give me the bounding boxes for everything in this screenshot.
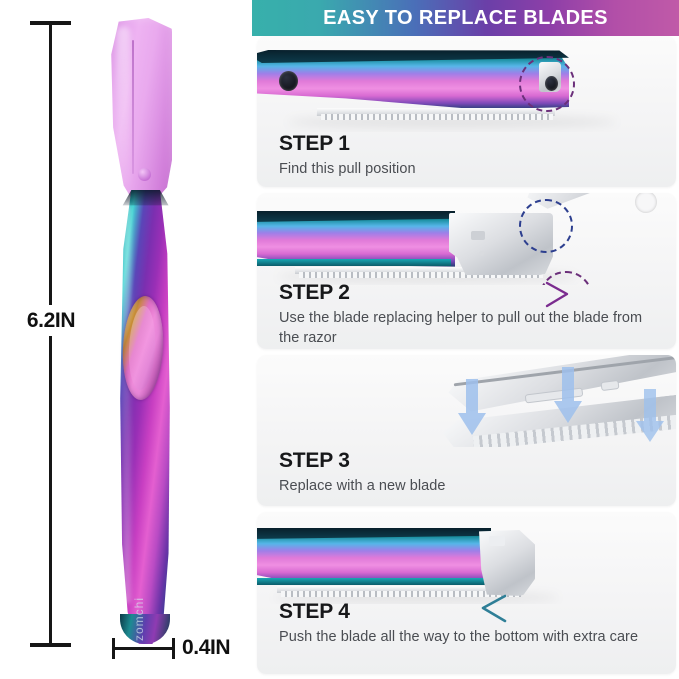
step-2-description: Use the blade replacing helper to pull o… [279, 308, 659, 348]
banner-title: EASY TO REPLACE BLADES [323, 7, 608, 30]
height-dimension-bottom-cap [30, 643, 71, 647]
razor-handle-highlight [122, 204, 131, 604]
step-card-2: STEP 2 Use the blade replacing helper to… [257, 193, 676, 349]
step-3-blue-down-arrow-icon-1 [457, 379, 487, 439]
step-3-blue-down-arrow-icon-2 [553, 367, 583, 427]
step-2-razor-teal-edge [257, 259, 451, 266]
banner-header: EASY TO REPLACE BLADES [252, 0, 679, 36]
step-2-right-arrow-icon [467, 281, 577, 309]
height-dimension-label: 6.2IN [8, 305, 94, 336]
width-dimension-line [113, 647, 175, 650]
razor-cap-logo-icon [138, 168, 151, 181]
razor-cap-highlight [116, 26, 130, 186]
step-1-description: Find this pull position [279, 159, 416, 179]
razor-cap-seam [132, 40, 134, 174]
step-1-title: STEP 1 [279, 132, 416, 156]
razor-product-image: zomchi [96, 18, 196, 644]
step-4-cartridge-notch [489, 536, 505, 546]
step-2-cartridge-slot [471, 231, 485, 240]
step-card-1: STEP 1 Find this pull position [257, 36, 676, 187]
step-4-description: Push the blade all the way to the bottom… [279, 627, 638, 647]
step-3-photo [257, 355, 676, 447]
step-card-3: STEP 3 Replace with a new blade [257, 355, 676, 506]
step-4-blade-cartridge [479, 530, 535, 596]
razor-brand-text: zomchi [132, 583, 146, 641]
product-dimension-panel: 6.2IN 0.4IN zomchi [0, 0, 252, 679]
step-3-description: Replace with a new blade [279, 476, 445, 496]
step-1-razor-hole [279, 71, 298, 91]
step-4-photo [257, 512, 676, 604]
step-2-cartridge-dot [479, 251, 484, 256]
step-3-blue-down-arrow-icon-3 [635, 389, 665, 445]
step-3-text: STEP 3 Replace with a new blade [279, 449, 445, 496]
instruction-steps-panel: EASY TO REPLACE BLADES STEP 1 Find this [252, 0, 679, 679]
step-2-highlight-circle [519, 199, 573, 253]
step-3-blade-slot-2 [601, 380, 620, 391]
step-4-razor-teal-edge [257, 578, 487, 585]
step-1-photo [257, 36, 676, 132]
step-card-4: STEP 4 Push the blade all the way to the… [257, 512, 676, 674]
product-infographic: 6.2IN 0.4IN zomchi EASY TO REPLACE BLADE… [0, 0, 679, 679]
step-4-left-arrow-icon [475, 594, 595, 624]
step-2-helper-tool-hole [632, 193, 661, 216]
step-2-photo [257, 193, 676, 285]
step-1-text: STEP 1 Find this pull position [279, 132, 416, 179]
step-1-highlight-circle [519, 56, 575, 112]
step-1-blade-teeth [321, 114, 553, 120]
step-3-title: STEP 3 [279, 449, 445, 473]
